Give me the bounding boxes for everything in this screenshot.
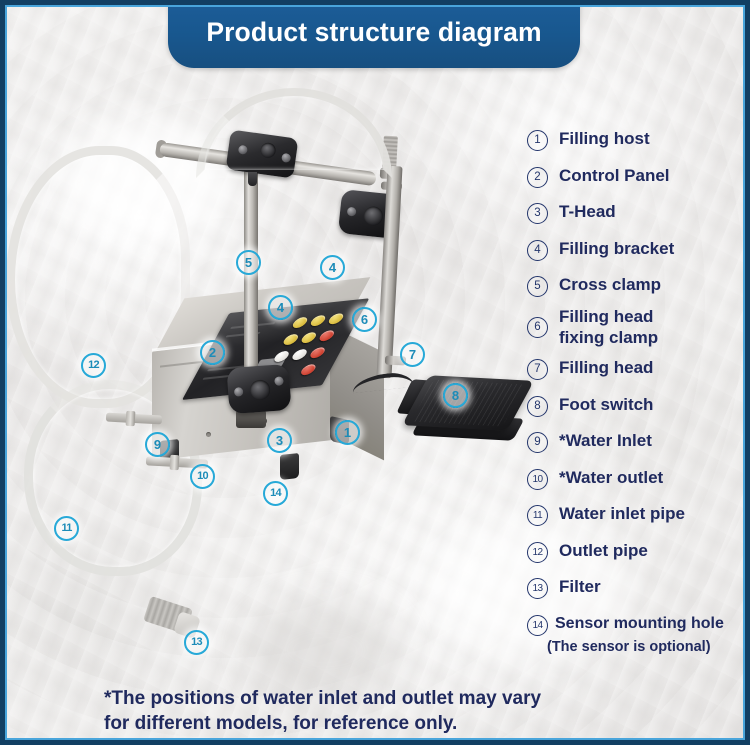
legend-item-13: 13 Filter [527, 576, 739, 599]
body-screw [206, 432, 211, 437]
legend-item-7: 7 Filling head [527, 357, 739, 380]
callout-4: 4 [320, 255, 345, 280]
legend-number: 14 [527, 615, 548, 636]
legend-item-10: 10 *Water outlet [527, 467, 739, 490]
legend-label: Filling host [559, 128, 650, 149]
legend-label: T-Head [559, 201, 616, 222]
legend-item-9: 9 *Water Inlet [527, 430, 739, 453]
t-head-hole [249, 379, 270, 400]
legend-number: 11 [527, 505, 548, 526]
callout-8: 8 [443, 383, 468, 408]
legend-item-5: 5 Cross clamp [527, 274, 739, 297]
callout-5: 5 [236, 250, 261, 275]
legend-number: 9 [527, 432, 548, 453]
legend-number: 3 [527, 203, 548, 224]
legend-label: Filling head fixing clamp [559, 306, 658, 348]
legend-number: 10 [527, 469, 548, 490]
legend-item-3: 3 T-Head [527, 201, 739, 224]
callout-10: 10 [190, 464, 215, 489]
callout-13: 13 [184, 630, 209, 655]
legend-list: 1 Filling host 2 Control Panel 3 T-Head … [527, 128, 739, 655]
legend-number: 6 [527, 317, 548, 338]
legend-sensor-note: (The sensor is optional) [547, 639, 739, 655]
legend-label: Filter [559, 576, 601, 597]
legend-number: 4 [527, 240, 548, 261]
callout-9: 9 [145, 432, 170, 457]
foot-switch-tread [411, 380, 525, 427]
callout-1: 1 [335, 420, 360, 445]
machine-photo [0, 80, 530, 680]
legend-number: 1 [527, 130, 548, 151]
legend-number: 13 [527, 578, 548, 599]
panel-button-red[interactable] [308, 347, 327, 359]
legend-label: Sensor mounting hole [555, 613, 724, 634]
legend-label: Filling head [559, 357, 653, 378]
callout-4: 4 [268, 295, 293, 320]
legend-label: Foot switch [559, 394, 653, 415]
legend-item-1: 1 Filling host [527, 128, 739, 151]
callout-2: 2 [200, 340, 225, 365]
title-banner: Product structure diagram [168, 0, 580, 68]
legend-label: Cross clamp [559, 274, 661, 295]
callout-14: 14 [263, 481, 288, 506]
panel-button-red[interactable] [299, 364, 318, 376]
legend-number: 8 [527, 396, 548, 417]
callout-3: 3 [267, 428, 292, 453]
fixing-clamp-hole [363, 206, 384, 227]
legend-item-4: 4 Filling bracket [527, 238, 739, 261]
legend-number: 2 [527, 167, 548, 188]
machine-foot [280, 453, 299, 480]
callout-11: 11 [54, 516, 79, 541]
fixing-clamp-bolt [347, 207, 357, 217]
legend-item-6: 6 Filling head fixing clamp [527, 306, 739, 348]
legend-label: Outlet pipe [559, 540, 648, 561]
water-inlet-nut [126, 411, 136, 426]
nozzle-feed-tube [196, 88, 392, 178]
legend-item-2: 2 Control Panel [527, 165, 739, 188]
panel-button-white[interactable] [290, 349, 309, 361]
legend-label: Water inlet pipe [559, 503, 685, 524]
callout-12: 12 [81, 353, 106, 378]
page-title: Product structure diagram [206, 17, 541, 48]
callout-6: 6 [352, 307, 377, 332]
footnote-text: *The positions of water inlet and outlet… [104, 686, 644, 736]
legend-label: Control Panel [559, 165, 670, 186]
legend-label: *Water outlet [559, 467, 663, 488]
t-head-bolt [234, 387, 244, 397]
legend-number: 12 [527, 542, 548, 563]
water-outlet-nut [170, 455, 180, 470]
legend-item-11: 11 Water inlet pipe [527, 503, 739, 526]
legend-number: 7 [527, 359, 548, 380]
panel-button-white[interactable] [272, 351, 291, 363]
legend-label: Filling bracket [559, 238, 674, 259]
legend-number: 5 [527, 276, 548, 297]
legend-item-14: 14 Sensor mounting hole [527, 613, 739, 636]
callout-7: 7 [400, 342, 425, 367]
t-head-clamp [226, 364, 291, 414]
product-structure-diagram-page: 5 4 4 6 2 7 8 12 1 3 9 10 14 11 13 Produ… [0, 0, 750, 745]
legend-label: *Water Inlet [559, 430, 652, 451]
t-head-bolt [274, 376, 284, 386]
legend-item-12: 12 Outlet pipe [527, 540, 739, 563]
legend-item-8: 8 Foot switch [527, 394, 739, 417]
